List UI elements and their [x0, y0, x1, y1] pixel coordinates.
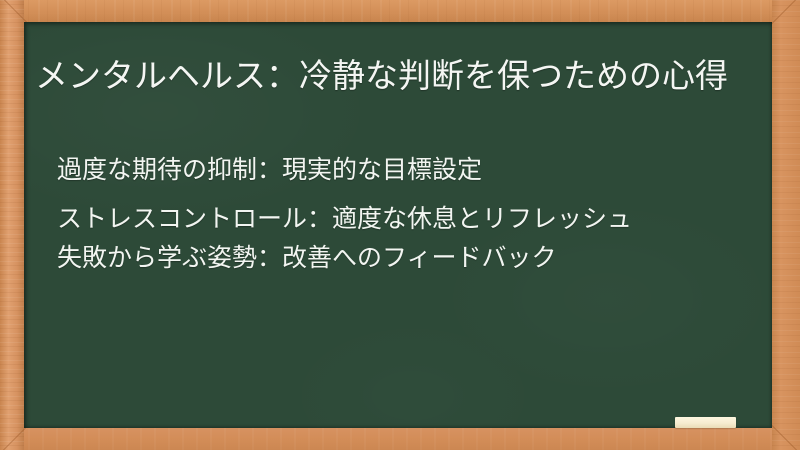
bullet-list: 過度な期待の抑制：現実的な目標設定 ストレスコントロール：適度な休息とリフレッシ… — [35, 150, 755, 287]
frame-rail-top — [0, 0, 800, 22]
chalk-stick-icon — [675, 417, 736, 428]
frame-rail-left — [0, 0, 24, 450]
chalkboard-scene: メンタルヘルス：冷静な判断を保つための心得 過度な期待の抑制：現実的な目標設定 … — [0, 0, 800, 450]
list-item: ストレスコントロール：適度な休息とリフレッシュ — [35, 199, 755, 238]
page-title: メンタルヘルス：冷静な判断を保つための心得 — [35, 54, 761, 97]
frame-rail-right — [772, 0, 800, 450]
list-item: 過度な期待の抑制：現実的な目標設定 — [35, 150, 755, 189]
frame-rail-bottom-ledge — [0, 428, 800, 450]
list-item: 失敗から学ぶ姿勢：改善へのフィードバック — [35, 238, 755, 277]
chalkboard-surface: メンタルヘルス：冷静な判断を保つための心得 過度な期待の抑制：現実的な目標設定 … — [24, 22, 772, 428]
